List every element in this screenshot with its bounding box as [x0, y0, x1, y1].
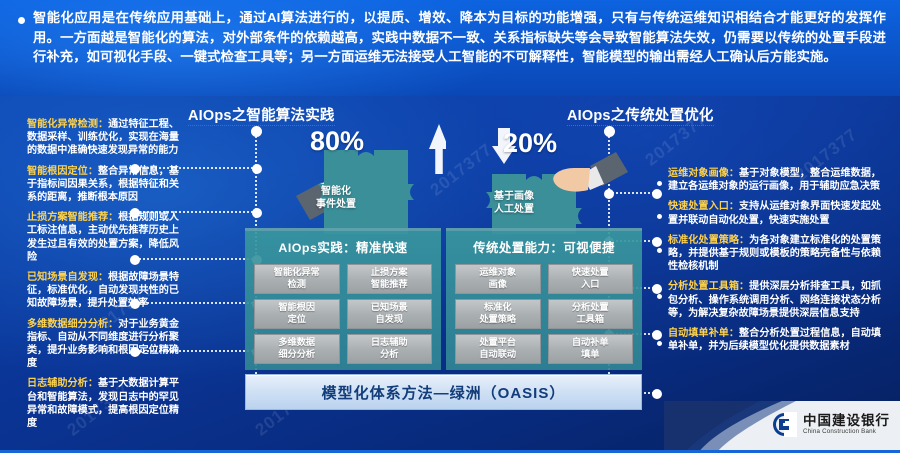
slide-canvas: 2017377 2017377 2017377 2017377 2017377 …	[0, 0, 900, 453]
right-percent-value: 20%	[503, 128, 557, 159]
rail-node	[652, 237, 662, 247]
left-feature-list: 智能化异常检测：通过特征工程、数据采样、训练优化，实现在海量的数据中准确快速发现…	[27, 118, 179, 437]
header-bullet-row: 智能化应用是在传统应用基础上，通过AI算法进行的，以提质、增效、降本为目标的功能…	[18, 8, 886, 67]
bullet-point-icon	[18, 17, 25, 24]
capability-chip[interactable]: 自动补单填单	[548, 334, 634, 364]
logo-name-en: China Construction Bank	[803, 429, 890, 436]
capability-chip[interactable]: 已知场景自发现	[347, 299, 433, 329]
rail-node	[251, 126, 262, 137]
list-item-lead: 日志辅助分析：	[27, 378, 98, 389]
rail-node	[652, 189, 662, 199]
rail-node	[130, 255, 140, 265]
capability-chip[interactable]: 智能根因定位	[254, 299, 340, 329]
brand-logo-block: 中国建设银行 China Construction Bank	[664, 401, 900, 453]
list-item: 标准化处置策略：为各对象建立标准化的处置策略，并提供基于规则或模板的策略完备性与…	[657, 234, 881, 274]
left-connector-spur	[135, 302, 257, 304]
left-connector-spur	[135, 258, 257, 260]
left-puzzle-label: 智能化 事件处置	[316, 186, 356, 211]
capability-chip[interactable]: 多维数据细分分析	[254, 334, 340, 364]
header-paragraph: 智能化应用是在传统应用基础上，通过AI算法进行的，以提质、增效、降本为目标的功能…	[33, 8, 886, 67]
list-item: 日志辅助分析：基于大数据计算平台和智能算法，发现日志中的罕见异常和故障模式，提高…	[27, 377, 179, 430]
right-puzzle-label-line2: 人工处置	[494, 204, 534, 217]
list-item: 止损方案智能推荐：根据规则或人工标注信息，主动优先推荐历史上发生过且有效的处置方…	[27, 211, 179, 264]
list-item-lead: 分析处置工具箱：	[668, 281, 749, 292]
panel-title: 传统处置能力：可视便捷	[455, 238, 633, 256]
left-connector-spur	[135, 211, 257, 213]
left-percent-value: 80%	[310, 126, 364, 157]
panel-chip-grid: 运维对象画像 快速处置入口 标准化处置策略 分析处置工具箱 处置平台自动联动 自…	[455, 264, 633, 364]
list-item-lead: 运维对象画像：	[668, 168, 739, 179]
list-item-lead: 智能化异常检测：	[27, 119, 108, 130]
oasis-footer-bar: 模型化体系方法—绿洲（OASIS）	[245, 374, 642, 410]
list-item-lead: 止损方案智能推荐：	[27, 212, 118, 223]
rail-node	[652, 330, 662, 340]
capability-chip[interactable]: 标准化处置策略	[455, 299, 541, 329]
list-item-lead: 快速处置入口：	[668, 201, 739, 212]
panel-chip-grid: 智能化异常检测 止损方案智能推荐 智能根因定位 已知场景自发现 多维数据细分分析…	[254, 264, 432, 364]
list-item: 已知场景自发现：根据故障场景特征，标准优化，自动发现共性的已知故障场景，提升处置…	[27, 271, 179, 311]
list-item: 运维对象画像：基于对象模型，整合运维数据，建立各运维对象的运行画像，用于辅助应急…	[657, 167, 881, 193]
header-band: 智能化应用是在传统应用基础上，通过AI算法进行的，以提质、增效、降本为目标的功能…	[0, 0, 900, 96]
list-item: 智能根因定位：整合异常信息，基于指标间因果关系，根据特征和关系的距离，推断根本原…	[27, 165, 179, 205]
right-feature-list: 运维对象画像：基于对象模型，整合运维数据，建立各运维对象的运行画像，用于辅助应急…	[657, 167, 881, 360]
capability-chip[interactable]: 止损方案智能推荐	[347, 264, 433, 294]
capability-chip[interactable]: 快速处置入口	[548, 264, 634, 294]
capability-panel-left: AIOps实践：精准快速 智能化异常检测 止损方案智能推荐 智能根因定位 已知场…	[245, 228, 441, 370]
left-connector-spur	[135, 350, 257, 352]
left-puzzle-label-line1: 智能化	[316, 186, 356, 199]
list-item: 智能化异常检测：通过特征工程、数据采样、训练优化，实现在海量的数据中准确快速发现…	[27, 118, 179, 158]
list-item-lead: 已知场景自发现：	[27, 272, 108, 283]
capability-panel-right: 传统处置能力：可视便捷 运维对象画像 快速处置入口 标准化处置策略 分析处置工具…	[446, 228, 642, 370]
capability-chip[interactable]: 处置平台自动联动	[455, 334, 541, 364]
capability-chip[interactable]: 日志辅助分析	[347, 334, 433, 364]
left-connector-spur	[135, 167, 257, 169]
rail-node	[252, 208, 262, 218]
left-puzzle-label-line2: 事件处置	[316, 199, 356, 212]
capability-chip[interactable]: 智能化异常检测	[254, 264, 340, 294]
list-item-lead: 标准化处置策略：	[668, 235, 749, 246]
list-item: 快速处置入口：支持从运维对象界面快速发起处置并联动自动化处置，快速实施处置	[657, 200, 881, 226]
rail-node	[130, 347, 140, 357]
right-puzzle-label: 基于画像 人工处置	[494, 191, 534, 216]
logo-lockup: 中国建设银行 China Construction Bank	[772, 412, 890, 437]
capability-chip[interactable]: 运维对象画像	[455, 264, 541, 294]
rail-node	[130, 164, 140, 174]
panel-title: AIOps实践：精准快速	[254, 238, 432, 256]
ccb-logo-icon	[772, 412, 797, 437]
list-item: 自动填单补单：整合分析处置过程信息，自动填单补单，并为后续模型优化提供数据素材	[657, 327, 881, 353]
rail-node	[130, 208, 140, 218]
list-item: 分析处置工具箱：提供深层分析排查工具，如抓包分析、操作系统调用分析、网络连接状态…	[657, 280, 881, 320]
logo-text-group: 中国建设银行 China Construction Bank	[803, 414, 890, 436]
logo-name-cn: 中国建设银行	[803, 414, 890, 428]
rail-node	[130, 299, 140, 309]
list-item-lead: 多维数据细分分析：	[27, 319, 118, 330]
list-item-lead: 智能根因定位：	[27, 166, 98, 177]
rail-node	[652, 284, 662, 294]
oasis-label: 模型化体系方法—绿洲（OASIS）	[322, 382, 566, 403]
rail-node	[652, 389, 662, 399]
right-puzzle-label-line1: 基于画像	[494, 191, 534, 204]
capability-chip[interactable]: 分析处置工具箱	[548, 299, 634, 329]
list-item: 多维数据细分分析：对于业务黄金指标、自动从不同维度进行分析聚类，提升业务影响和根…	[27, 318, 179, 371]
rail-node	[252, 164, 262, 174]
list-item-lead: 自动填单补单：	[668, 328, 739, 339]
